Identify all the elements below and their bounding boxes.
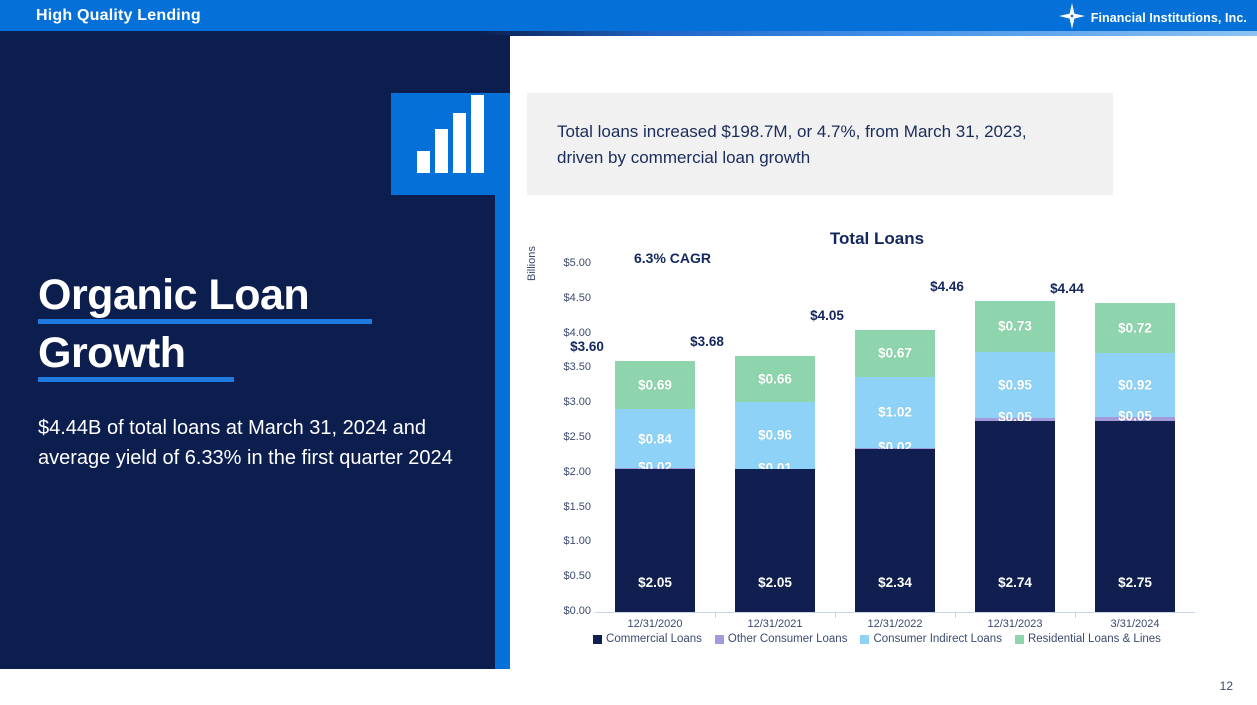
legend-label: Commercial Loans [606, 633, 702, 645]
legend-item[interactable]: Other Consumer Loans [715, 633, 848, 645]
chart-bar-value-label: $2.05 [615, 575, 695, 590]
chart-bar-value-label: $0.69 [615, 378, 695, 393]
slide-section-title: High Quality Lending [36, 7, 201, 25]
chart-bar-segment: $2.34 [855, 449, 935, 612]
chart-total-label: $4.46 [907, 279, 987, 294]
brand-logo: Financial Institutions, Inc. [1059, 4, 1247, 32]
legend-item[interactable]: Consumer Indirect Loans [860, 633, 1001, 645]
page-number: 12 [1220, 679, 1233, 693]
legend-item[interactable]: Residential Loans & Lines [1015, 633, 1161, 645]
chart-bar-value-label: $0.95 [975, 377, 1055, 392]
x-axis-separator [955, 612, 956, 618]
chart-bar-segment: $0.67 [855, 330, 935, 377]
chart-plot-area: $5.00$4.50$4.00$3.50$3.00$2.50$2.00$1.50… [595, 264, 1195, 612]
chart-bar-group[interactable]: $0.73$0.95$0.05$2.74 [975, 301, 1055, 612]
chart-bar-value-label: $2.75 [1095, 575, 1175, 590]
y-axis-tick: $1.00 [535, 535, 591, 547]
chart-bar-value-label: $0.96 [735, 428, 815, 443]
page-title: Organic Loan Growth [38, 270, 458, 386]
chart-total-label: $4.05 [787, 308, 867, 323]
legend-swatch [1015, 635, 1024, 644]
legend-swatch [593, 635, 602, 644]
chart-bar-segment: $2.05 [735, 469, 815, 612]
y-axis-tick: $0.50 [535, 570, 591, 582]
chart-bar-group[interactable]: $0.66$0.96$0.01$2.05 [735, 356, 815, 612]
total-loans-chart: Total Loans 6.3% CAGR Billions $5.00$4.5… [527, 215, 1227, 660]
chart-bar-value-label: $0.72 [1095, 321, 1175, 336]
x-axis-line [595, 612, 1195, 613]
bar-chart-icon [417, 95, 484, 173]
chart-bar-value-label: $2.34 [855, 575, 935, 590]
bar-chart-icon-tile [391, 93, 510, 195]
legend-label: Other Consumer Loans [728, 633, 848, 645]
chart-bar-value-label: $0.92 [1095, 378, 1175, 393]
legend-label: Consumer Indirect Loans [873, 633, 1001, 645]
chart-bar-segment: $0.69 [615, 361, 695, 409]
x-axis-tick: 12/31/2023 [956, 618, 1074, 630]
x-axis-tick: 12/31/2022 [836, 618, 954, 630]
callout-box: Total loans increased $198.7M, or 4.7%, … [527, 93, 1113, 195]
chart-bar-value-label: $2.74 [975, 575, 1055, 590]
chart-bar-value-label: $0.66 [735, 371, 815, 386]
chart-bar-group[interactable]: $0.69$0.84$0.02$2.05 [615, 361, 695, 612]
y-axis-tick: $4.00 [535, 327, 591, 339]
x-axis-tick: 12/31/2021 [716, 618, 834, 630]
x-axis-tick: 12/31/2020 [596, 618, 714, 630]
x-axis-separator [835, 612, 836, 618]
legend-swatch [860, 635, 869, 644]
y-axis-tick: $2.50 [535, 431, 591, 443]
y-axis-tick: $3.50 [535, 361, 591, 373]
chart-bar-segment: $0.66 [735, 356, 815, 402]
y-axis-tick: $0.00 [535, 605, 591, 617]
chart-legend: Commercial LoansOther Consumer LoansCons… [527, 633, 1227, 645]
chart-bar-segment: $2.75 [1095, 421, 1175, 612]
legend-item[interactable]: Commercial Loans [593, 633, 702, 645]
chart-bar-value-label: $2.05 [735, 575, 815, 590]
page-title-line-2: Growth [38, 328, 458, 378]
chart-bar-segment: $0.73 [975, 301, 1055, 352]
chart-bar-value-label: $0.73 [975, 319, 1055, 334]
chart-bar-value-label: $0.84 [615, 431, 695, 446]
y-axis-tick: $1.50 [535, 501, 591, 513]
chart-bar-group[interactable]: $0.72$0.92$0.05$2.75 [1095, 303, 1175, 612]
chart-bar-segment: $0.92 [1095, 353, 1175, 417]
chart-bar-segment: $2.05 [615, 469, 695, 612]
chart-bar-group[interactable]: $0.67$1.02$0.02$2.34 [855, 330, 935, 612]
chart-total-label: $4.44 [1027, 281, 1107, 296]
x-axis-separator [715, 612, 716, 618]
chart-title: Total Loans [527, 229, 1227, 249]
y-axis-tick: $4.50 [535, 292, 591, 304]
chart-bar-value-label: $1.02 [855, 405, 935, 420]
x-axis-separator [1075, 612, 1076, 618]
y-axis-tick: $3.00 [535, 396, 591, 408]
brand-name: Financial Institutions, Inc. [1091, 11, 1247, 25]
chart-bar-segment: $0.72 [1095, 303, 1175, 353]
page-title-line-1: Organic Loan [38, 270, 458, 320]
chart-bar-value-label: $0.67 [855, 346, 935, 361]
chart-bar-segment: $0.96 [735, 402, 815, 469]
legend-swatch [715, 635, 724, 644]
y-axis-tick: $5.00 [535, 257, 591, 269]
chart-total-label: $3.60 [547, 339, 627, 354]
callout-text: Total loans increased $198.7M, or 4.7%, … [557, 119, 1077, 171]
page-subtitle: $4.44B of total loans at March 31, 2024 … [38, 413, 468, 473]
chart-bar-segment: $1.02 [855, 377, 935, 448]
compass-star-icon [1059, 3, 1085, 34]
y-axis-tick: $2.00 [535, 466, 591, 478]
chart-bar-segment: $0.95 [975, 352, 1055, 418]
legend-label: Residential Loans & Lines [1028, 633, 1161, 645]
x-axis-tick: 3/31/2024 [1076, 618, 1194, 630]
chart-total-label: $3.68 [667, 334, 747, 349]
chart-bar-segment: $2.74 [975, 421, 1055, 612]
